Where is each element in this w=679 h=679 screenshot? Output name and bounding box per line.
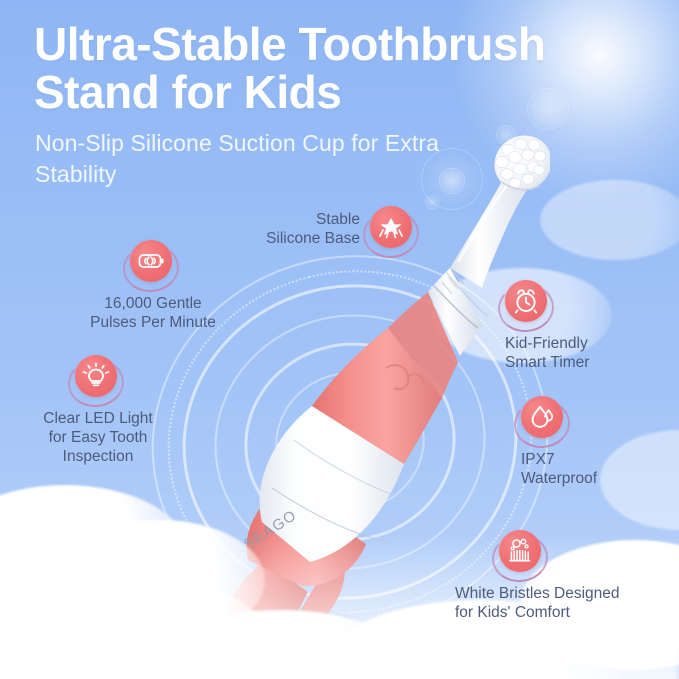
lightbulb-icon — [75, 355, 121, 401]
feature-label: Clear LED Light for Easy Tooth Inspectio… — [12, 409, 184, 466]
feature-waterproof: IPX7 Waterproof — [521, 396, 671, 488]
feature-smart-timer: Kid-Friendly Smart Timer — [505, 280, 665, 372]
suction-cup-icon — [370, 206, 416, 252]
feature-label: IPX7 Waterproof — [521, 450, 671, 488]
product-feature-infographic: SEAGO — [0, 0, 679, 679]
cloud — [0, 485, 190, 625]
feature-bristles: White Bristles Designed for Kids' Comfor… — [455, 530, 675, 622]
feature-label: 16,000 Gentle Pulses Per Minute — [78, 294, 228, 332]
alarm-clock-icon — [505, 280, 551, 326]
page-title: Ultra-Stable Toothbrush Stand for Kids — [34, 20, 674, 116]
cloud — [540, 180, 679, 260]
bristles-bubbles-icon — [499, 530, 545, 576]
feature-pulses: 16,000 Gentle Pulses Per Minute — [78, 240, 228, 332]
water-drop-icon — [521, 396, 567, 442]
feature-label: Kid-Friendly Smart Timer — [505, 334, 665, 372]
page-subtitle: Non-Slip Silicone Suction Cup for Extra … — [35, 128, 495, 190]
feature-led-light: Clear LED Light for Easy Tooth Inspectio… — [12, 355, 184, 466]
feature-label: Stable Silicone Base — [236, 210, 360, 248]
feature-label: White Bristles Designed for Kids' Comfor… — [455, 584, 675, 622]
feature-silicone-base: Stable Silicone Base — [236, 206, 416, 252]
vibration-pulse-icon — [130, 240, 176, 286]
